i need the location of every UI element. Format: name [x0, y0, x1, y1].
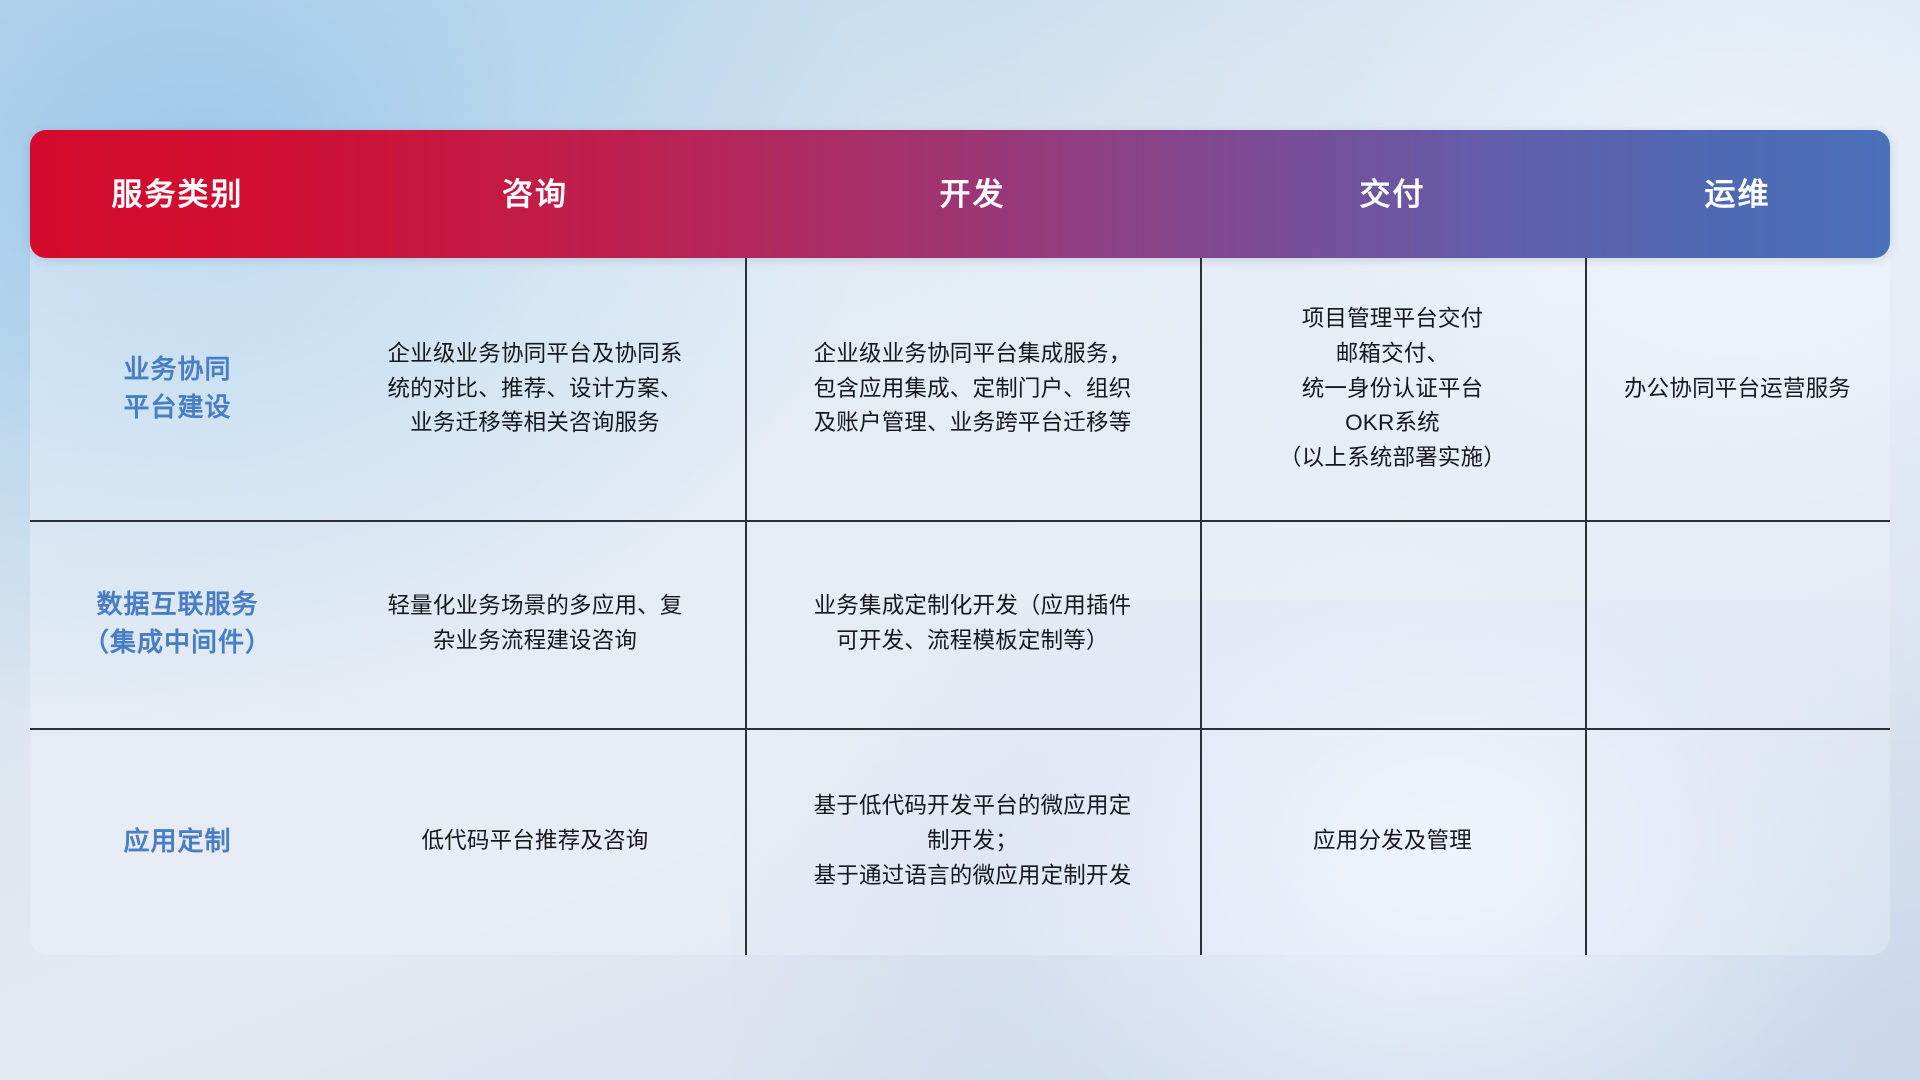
cell-operations	[1585, 728, 1890, 955]
category-label: 业务协同 平台建设	[123, 351, 231, 426]
category-label: 应用定制	[123, 823, 231, 861]
cell-text: 项目管理平台交付 邮箱交付、 统一身份认证平台 OKR系统 （以上系统部署实施）	[1279, 302, 1506, 476]
cell-delivery: 项目管理平台交付 邮箱交付、 统一身份认证平台 OKR系统 （以上系统部署实施）	[1200, 258, 1585, 520]
row-category-cell: 应用定制	[30, 728, 325, 955]
cell-text: 企业级业务协同平台集成服务， 包含应用集成、定制门户、组织 及账户管理、业务跨平…	[814, 337, 1132, 442]
row-category-cell: 业务协同 平台建设	[30, 258, 325, 520]
cell-text: 办公协同平台运营服务	[1624, 372, 1851, 407]
cell-text: 基于低代码开发平台的微应用定 制开发； 基于通过语言的微应用定制开发	[814, 789, 1132, 894]
column-header-development: 开发	[745, 179, 1200, 210]
cell-development: 业务集成定制化开发（应用插件 可开发、流程模板定制等）	[745, 520, 1200, 728]
cell-text: 企业级业务协同平台及协同系 统的对比、推荐、设计方案、 业务迁移等相关咨询服务	[387, 337, 682, 442]
table-row: 应用定制 低代码平台推荐及咨询 基于低代码开发平台的微应用定 制开发； 基于通过…	[30, 728, 1890, 955]
cell-development: 基于低代码开发平台的微应用定 制开发； 基于通过语言的微应用定制开发	[745, 728, 1200, 955]
row-category-cell: 数据互联服务 （集成中间件）	[30, 520, 325, 728]
category-label: 数据互联服务 （集成中间件）	[83, 586, 272, 661]
table-body: 业务协同 平台建设 企业级业务协同平台及协同系 统的对比、推荐、设计方案、 业务…	[30, 258, 1890, 955]
cell-text: 应用分发及管理	[1313, 824, 1472, 859]
column-header-service-category: 服务类别	[30, 179, 325, 210]
cell-operations: 办公协同平台运营服务	[1585, 258, 1890, 520]
cell-text: 低代码平台推荐及咨询	[421, 824, 648, 859]
cell-delivery: 应用分发及管理	[1200, 728, 1585, 955]
table-row: 数据互联服务 （集成中间件） 轻量化业务场景的多应用、复 杂业务流程建设咨询 业…	[30, 520, 1890, 728]
column-divider-consulting-development	[745, 258, 747, 955]
cell-development: 企业级业务协同平台集成服务， 包含应用集成、定制门户、组织 及账户管理、业务跨平…	[745, 258, 1200, 520]
cell-consulting: 轻量化业务场景的多应用、复 杂业务流程建设咨询	[325, 520, 745, 728]
column-divider-development-delivery	[1200, 258, 1202, 955]
cell-consulting: 低代码平台推荐及咨询	[325, 728, 745, 955]
cell-text: 轻量化业务场景的多应用、复 杂业务流程建设咨询	[387, 589, 682, 659]
column-header-delivery: 交付	[1200, 179, 1585, 210]
column-header-consulting: 咨询	[325, 179, 745, 210]
table-row: 业务协同 平台建设 企业级业务协同平台及协同系 统的对比、推荐、设计方案、 业务…	[30, 258, 1890, 520]
column-header-operations: 运维	[1585, 179, 1890, 210]
cell-consulting: 企业级业务协同平台及协同系 统的对比、推荐、设计方案、 业务迁移等相关咨询服务	[325, 258, 745, 520]
cell-operations	[1585, 520, 1890, 728]
cell-delivery	[1200, 520, 1585, 728]
column-divider-delivery-operations	[1585, 258, 1587, 955]
table-header-row: 服务类别 咨询 开发 交付 运维	[30, 130, 1890, 258]
cell-text: 业务集成定制化开发（应用插件 可开发、流程模板定制等）	[814, 589, 1132, 659]
